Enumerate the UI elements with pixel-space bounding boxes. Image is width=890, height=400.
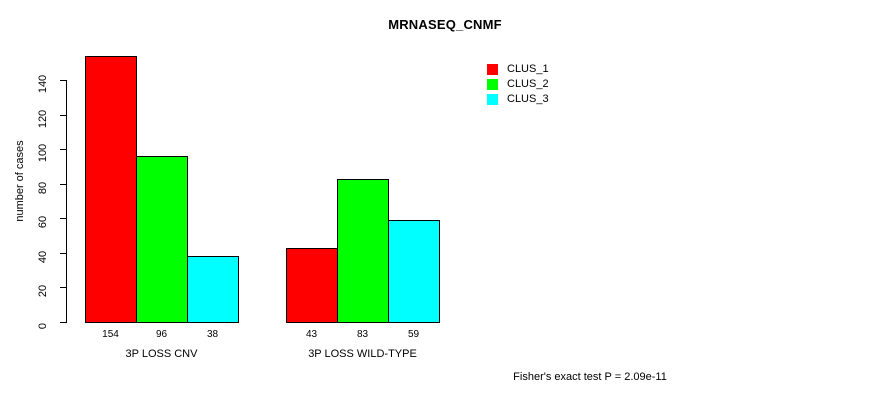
y-axis-tick bbox=[60, 184, 67, 185]
legend-item: CLUS_2 bbox=[487, 77, 549, 91]
y-axis-tick-label: 80 bbox=[32, 178, 54, 190]
bar-value-label: 43 bbox=[286, 330, 337, 340]
y-axis-tick bbox=[60, 218, 67, 219]
plot-area: number of cases 020406080100120140 15496… bbox=[0, 0, 470, 400]
y-axis-tick-label-text: 40 bbox=[37, 251, 49, 263]
y-axis-tick-label: 60 bbox=[32, 212, 54, 224]
y-axis-title: number of cases bbox=[14, 121, 26, 241]
y-axis-tick-label: 40 bbox=[32, 247, 54, 259]
bar-value-label: 38 bbox=[187, 330, 238, 340]
group-axis-label: 3P LOSS WILD-TYPE bbox=[266, 348, 459, 360]
y-axis-tick-label-text: 0 bbox=[37, 323, 49, 329]
chart-canvas: MRNASEQ_CNMF number of cases 02040608010… bbox=[0, 0, 890, 400]
y-axis-tick-label-text: 60 bbox=[37, 216, 49, 228]
legend-item-label: CLUS_1 bbox=[507, 63, 549, 75]
y-axis-tick-label-text: 140 bbox=[37, 75, 49, 93]
bar bbox=[85, 56, 137, 323]
bar-value-label: 83 bbox=[337, 330, 388, 340]
y-axis-tick-label-text: 100 bbox=[37, 144, 49, 162]
bar-value-label: 59 bbox=[388, 330, 439, 340]
legend-item: CLUS_1 bbox=[487, 62, 549, 76]
y-axis-tick bbox=[60, 80, 67, 81]
legend-swatch-icon bbox=[487, 79, 498, 90]
legend-swatch-icon bbox=[487, 64, 498, 75]
statistical-annotation: Fisher's exact test P = 2.09e-11 bbox=[465, 371, 715, 384]
bar bbox=[136, 156, 188, 323]
y-axis-tick-label: 0 bbox=[32, 316, 54, 328]
y-axis-tick bbox=[60, 322, 67, 323]
legend-swatch-icon bbox=[487, 94, 498, 105]
y-axis-tick bbox=[60, 115, 67, 116]
bar bbox=[286, 248, 338, 323]
y-axis-tick-label: 20 bbox=[32, 281, 54, 293]
bar bbox=[187, 256, 239, 323]
bar bbox=[337, 179, 389, 323]
legend-item-label: CLUS_2 bbox=[507, 78, 549, 90]
y-axis-tick-label: 120 bbox=[32, 109, 54, 121]
chart-legend: CLUS_1CLUS_2CLUS_3 bbox=[487, 62, 549, 107]
bar bbox=[388, 220, 440, 323]
y-axis-tick bbox=[60, 253, 67, 254]
y-axis-tick-label-text: 120 bbox=[37, 109, 49, 127]
y-axis-tick bbox=[60, 149, 67, 150]
bar-value-label: 154 bbox=[85, 330, 136, 340]
group-axis-label: 3P LOSS CNV bbox=[65, 348, 258, 360]
y-axis-tick-label: 140 bbox=[32, 74, 54, 86]
legend-item-label: CLUS_3 bbox=[507, 93, 549, 105]
y-axis-tick-label: 100 bbox=[32, 143, 54, 155]
y-axis-tick-label-text: 80 bbox=[37, 182, 49, 194]
y-axis-tick bbox=[60, 287, 67, 288]
y-axis-tick-label-text: 20 bbox=[37, 285, 49, 297]
bar-value-label: 96 bbox=[136, 330, 187, 340]
legend-item: CLUS_3 bbox=[487, 92, 549, 106]
